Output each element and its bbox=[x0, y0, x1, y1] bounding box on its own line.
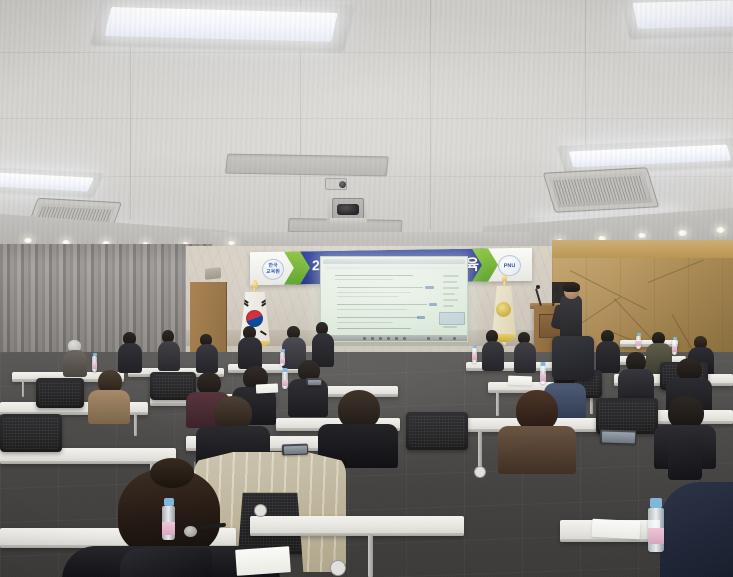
taskbar-icon bbox=[453, 337, 456, 340]
attendee-torso bbox=[514, 342, 536, 373]
institution-emblem-icon bbox=[496, 302, 511, 317]
projected-sidebar-row bbox=[443, 326, 457, 328]
projected-text-line bbox=[337, 322, 393, 323]
attendee-hair-bun bbox=[150, 458, 194, 488]
attendee-torso bbox=[660, 482, 733, 577]
table-foreground-center bbox=[250, 516, 464, 536]
chair[interactable] bbox=[406, 412, 468, 450]
projected-text-line bbox=[337, 287, 423, 288]
chair-caster bbox=[330, 560, 346, 576]
projected-sidebar-row bbox=[443, 287, 459, 289]
ceiling-seam bbox=[585, 0, 586, 215]
projected-text-line bbox=[335, 275, 413, 276]
projected-text-line bbox=[337, 317, 419, 318]
attendee-torso bbox=[482, 341, 504, 371]
ceiling-trough-fixture bbox=[288, 218, 403, 234]
microphone-head-icon bbox=[536, 285, 540, 289]
ceiling-seam bbox=[0, 52, 733, 53]
projected-address-bar bbox=[325, 265, 463, 269]
projected-highlight-chip bbox=[417, 316, 425, 319]
organization-logo-left: 한국 교육원 bbox=[262, 259, 284, 280]
downlight-icon bbox=[638, 233, 646, 238]
downlight-icon bbox=[678, 230, 687, 236]
taskbar-icon bbox=[363, 337, 366, 340]
ceiling-seam bbox=[0, 176, 733, 177]
wood-panel-line bbox=[648, 260, 704, 283]
attendee bbox=[62, 340, 88, 376]
presenter-hair bbox=[563, 282, 580, 292]
table-leg bbox=[134, 414, 137, 436]
attendee-torso bbox=[238, 337, 262, 369]
ceiling-light-panel bbox=[527, 210, 692, 242]
chair-caster bbox=[254, 504, 267, 517]
ac-vent-icon bbox=[24, 198, 122, 241]
water-bottle-foreground bbox=[162, 506, 175, 540]
ac-vent-icon bbox=[543, 167, 660, 213]
water-bottle-foreground-right bbox=[648, 508, 664, 552]
projected-sidebar-row bbox=[443, 275, 459, 277]
chair[interactable] bbox=[0, 414, 62, 452]
table-caster bbox=[474, 466, 486, 478]
attendee bbox=[482, 330, 504, 370]
ceiling bbox=[0, 0, 733, 248]
handout-paper bbox=[508, 376, 532, 386]
attendee-torso bbox=[196, 344, 218, 373]
handout-paper bbox=[592, 519, 641, 539]
banner-right-logo-text: PNU bbox=[499, 263, 520, 269]
table-leg bbox=[478, 431, 482, 467]
ceiling-seam bbox=[130, 0, 131, 220]
attendee-torso bbox=[88, 390, 130, 424]
attendee bbox=[238, 326, 262, 368]
taeguk-symbol-icon bbox=[246, 310, 263, 327]
projected-text-line bbox=[337, 296, 399, 297]
ceiling-light-panel bbox=[621, 0, 733, 38]
attendee bbox=[196, 334, 218, 372]
attendee-torso bbox=[63, 350, 87, 377]
table-leg bbox=[22, 381, 24, 397]
projected-text-line bbox=[337, 328, 411, 329]
projected-highlight-chip bbox=[429, 303, 437, 306]
seminar-room-photo: 한국 교육원 PNU 202 교육 bbox=[0, 0, 733, 577]
water-bottle bbox=[672, 340, 677, 355]
attendee-foreground-right bbox=[660, 470, 733, 577]
projected-window-titlebar bbox=[323, 259, 465, 264]
jacket-on-chair-right bbox=[552, 336, 594, 380]
banner-logo-line2: 교육원 bbox=[263, 270, 283, 276]
projected-sidebar-row bbox=[443, 305, 454, 307]
attendee bbox=[596, 330, 620, 372]
ceiling-seam bbox=[0, 118, 733, 119]
projected-text-line bbox=[337, 292, 411, 293]
ceiling-light-panel bbox=[557, 138, 733, 174]
attendee bbox=[318, 390, 398, 464]
attendee bbox=[514, 332, 536, 372]
ceiling-seam bbox=[300, 0, 301, 230]
water-bottle bbox=[540, 366, 546, 384]
ceiling-trough-fixture bbox=[225, 154, 389, 177]
ceiling-light-panel bbox=[0, 167, 104, 197]
attendee-torso bbox=[498, 426, 576, 474]
taskbar-icon bbox=[371, 337, 374, 340]
eyeglasses bbox=[184, 526, 197, 537]
attendee-torso bbox=[158, 341, 180, 371]
projected-sidebar-row bbox=[443, 293, 455, 295]
taskbar-icon bbox=[395, 337, 398, 340]
microphone-head-icon bbox=[554, 287, 558, 291]
tablet-device[interactable] bbox=[600, 429, 636, 444]
ceiling-projector bbox=[332, 198, 364, 220]
projected-text-line bbox=[337, 309, 407, 310]
taskbar-icon bbox=[439, 337, 442, 340]
table-leg bbox=[368, 535, 373, 577]
projection-screen bbox=[320, 256, 468, 342]
ceiling-seam bbox=[430, 0, 431, 230]
water-bottle bbox=[282, 372, 288, 389]
security-camera-icon bbox=[325, 178, 347, 190]
water-bottle bbox=[636, 336, 641, 349]
tablet-device[interactable] bbox=[282, 444, 308, 456]
taskbar-icon bbox=[403, 337, 406, 340]
bag bbox=[668, 436, 702, 480]
attendee bbox=[158, 330, 180, 370]
ceiling-light-panel bbox=[90, 0, 354, 51]
projector-mount-plate bbox=[327, 194, 367, 225]
taskbar-icon bbox=[379, 337, 382, 340]
water-bottle bbox=[280, 352, 285, 366]
attendee-torso bbox=[118, 343, 142, 373]
taskbar-icon bbox=[427, 337, 430, 340]
attendee bbox=[618, 352, 654, 400]
handout-paper-foreground bbox=[235, 546, 291, 576]
attendee-arm bbox=[120, 548, 212, 577]
projected-sidebar-row bbox=[443, 281, 457, 283]
tablet-device[interactable] bbox=[306, 378, 322, 386]
downlight-icon bbox=[24, 238, 32, 243]
handout-paper bbox=[256, 383, 278, 393]
projected-text-line bbox=[335, 279, 393, 280]
attendee bbox=[118, 332, 142, 372]
projector-trim bbox=[330, 218, 366, 224]
attendee bbox=[498, 390, 576, 470]
taskbar-icon bbox=[387, 337, 390, 340]
water-bottle bbox=[472, 348, 477, 363]
projected-submit-button bbox=[439, 312, 465, 325]
chair[interactable] bbox=[36, 378, 84, 408]
attendee-torso bbox=[618, 369, 654, 401]
wall-wood-header-band bbox=[552, 240, 733, 258]
projected-text-line bbox=[337, 304, 427, 305]
attendee bbox=[88, 370, 130, 422]
wall-speaker-icon bbox=[205, 267, 221, 280]
organization-logo-right: PNU bbox=[498, 255, 521, 276]
downlight-icon bbox=[228, 241, 235, 245]
projected-highlight-chip bbox=[425, 286, 434, 289]
downlight-icon bbox=[716, 227, 725, 233]
attendee-torso bbox=[596, 341, 620, 373]
projected-taskbar bbox=[321, 335, 467, 341]
projected-sidebar-row bbox=[443, 299, 458, 301]
